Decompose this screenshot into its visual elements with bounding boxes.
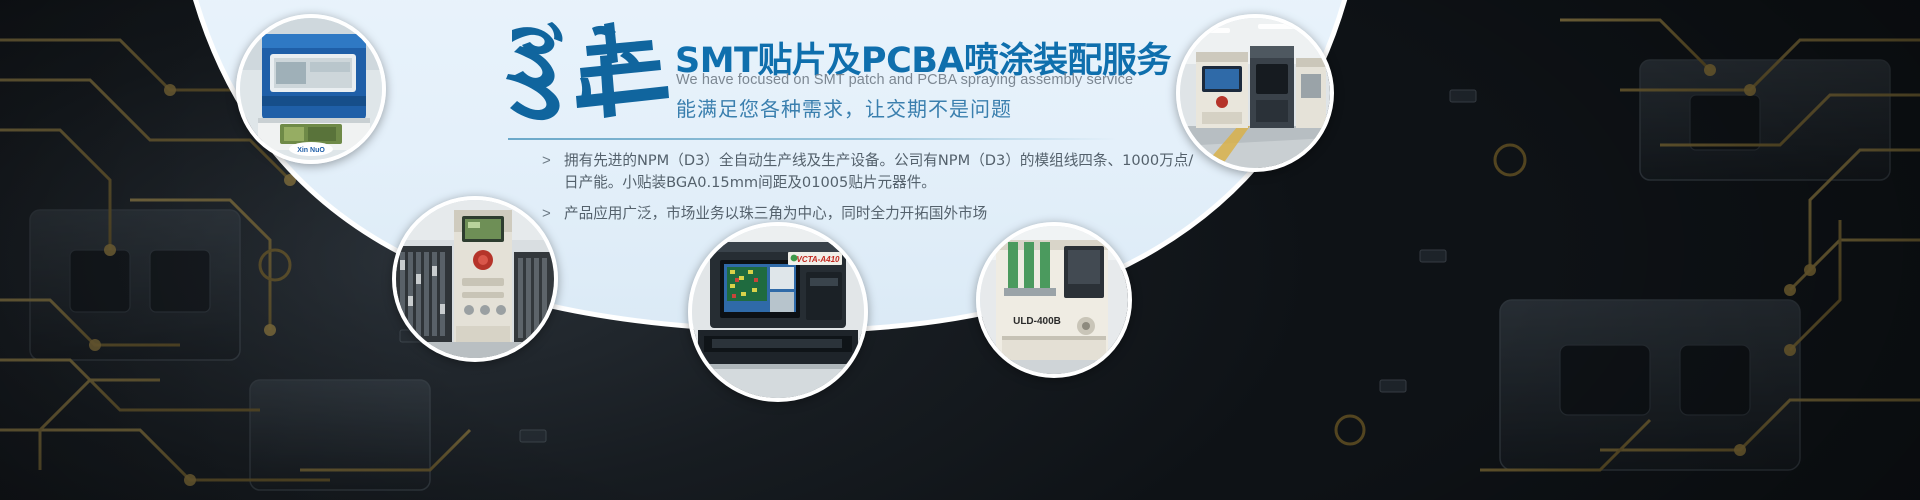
aoi-inspection-image: VCTA-A410 (692, 226, 864, 398)
bullet-marker-icon: > (542, 203, 564, 224)
list-item: > 拥有先进的NPM（D3）全自动生产线及生产设备。公司有NPM（D3）的模组线… (542, 150, 1202, 194)
banner-subtitle-english: We have focused on SMT patch and PCBA sp… (676, 72, 1133, 88)
bullet-text: 产品应用广泛，市场业务以珠三角为中心，同时全力开拓国外市场 (564, 203, 987, 225)
bullet-text: 拥有先进的NPM（D3）全自动生产线及生产设备。公司有NPM（D3）的模组线四条… (564, 150, 1202, 194)
photo-reflow-oven: Xin NuO (236, 14, 386, 164)
divider-line (508, 138, 1118, 140)
loader-uld-image: ULD-400B (980, 226, 1128, 374)
bullet-marker-icon: > (542, 150, 564, 171)
smt-service-banner: Xin NuO (0, 0, 1920, 500)
reflow-oven-image: Xin NuO (240, 18, 382, 160)
banner-text-block: SMT贴片及PCBA喷涂装配服务 We have focused on SMT … (500, 10, 1200, 240)
svg-text:VCTA-A410: VCTA-A410 (797, 255, 841, 264)
list-item: > 产品应用广泛，市场业务以珠三角为中心，同时全力开拓国外市场 (542, 203, 1202, 225)
banner-subtitle-chinese: 能满足您各种需求，让交期不是问题 (676, 93, 1012, 122)
photo-aoi-inspection: VCTA-A410 (688, 222, 868, 402)
photo-loader-uld: ULD-400B (976, 222, 1132, 378)
brush-calligraphy-years (500, 12, 680, 132)
production-line-image (1180, 18, 1330, 168)
svg-text:Xin NuO: Xin NuO (297, 147, 325, 154)
svg-text:ULD-400B: ULD-400B (1013, 316, 1061, 327)
feature-bullet-list: > 拥有先进的NPM（D3）全自动生产线及生产设备。公司有NPM（D3）的模组线… (542, 150, 1202, 234)
